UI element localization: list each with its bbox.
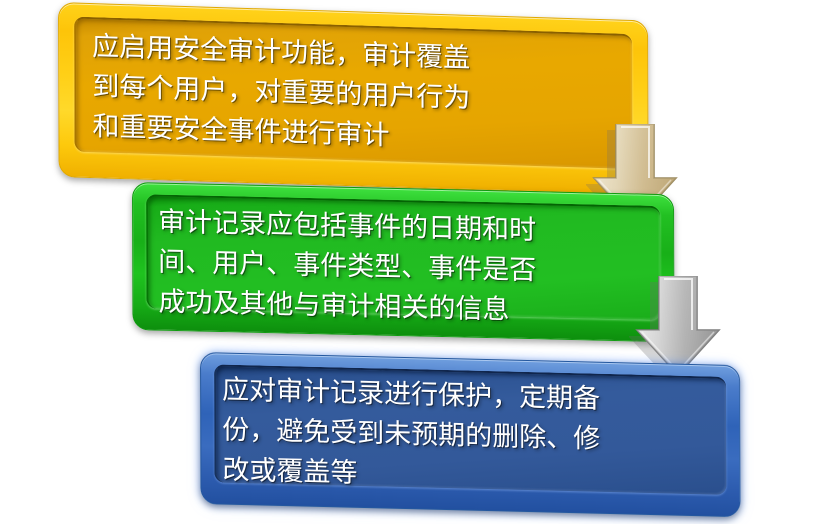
green-box-inner-panel	[146, 194, 660, 320]
slide-canvas: 应启用安全审计功能，审计覆盖 到每个用户，对重要的用户行为 和重要安全事件进行审…	[0, 0, 816, 524]
blue-box-inner-panel	[214, 364, 726, 495]
process-step-2-green-box[interactable]: 审计记录应包括事件的日期和时 间、用户、事件类型、事件是否 成功及其他与审计相关…	[132, 182, 675, 342]
process-step-3-blue-box[interactable]: 应对审计记录进行保护，定期备 份，避免受到未预期的删除、修 改或覆盖等	[200, 352, 741, 517]
process-step-1-gold-box[interactable]: 应启用安全审计功能，审计覆盖 到每个用户，对重要的用户行为 和重要安全事件进行审…	[58, 2, 649, 196]
gold-box-inner-panel	[74, 17, 632, 170]
